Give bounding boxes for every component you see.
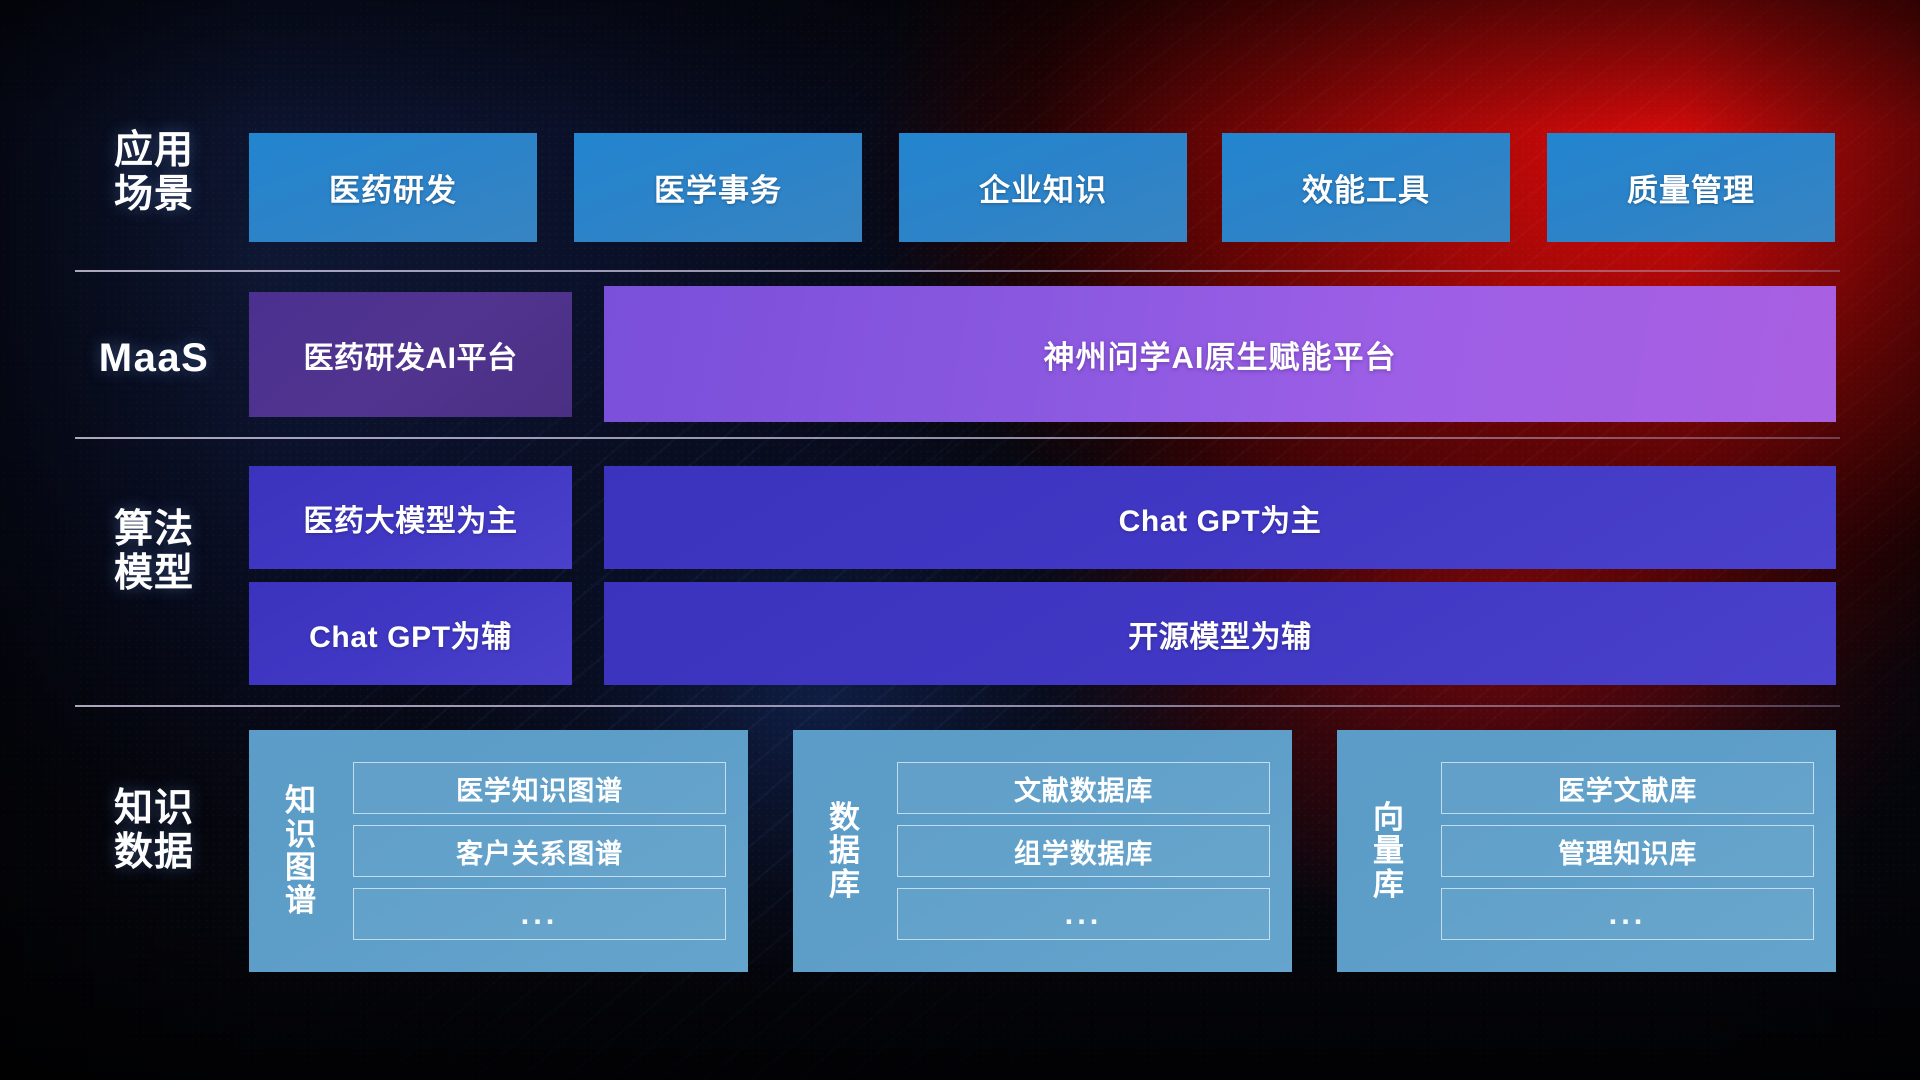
row-label-knowledge: 知识 数据 (74, 787, 234, 876)
knowledge-group-1[interactable]: 数 据 库 文献数据库 组学数据库 ... (793, 730, 1292, 972)
knowledge-group-2-item-1[interactable]: 管理知识库 (1441, 825, 1814, 877)
algo-left-box-1-label: Chat GPT为辅 (309, 612, 512, 656)
knowledge-group-0-label: 知 识 图 谱 (249, 784, 345, 918)
diagram-canvas: 应用 场景 医药研发 医学事务 企业知识 效能工具 质量管理 MaaS 医药研发… (0, 0, 1920, 1080)
knowledge-group-2[interactable]: 向 量 库 医学文献库 管理知识库 ... (1337, 730, 1836, 972)
knowledge-group-2-label-char-2: 库 (1345, 868, 1433, 901)
knowledge-group-0-label-char-0: 知 (257, 784, 345, 817)
divider-maas-algorithm (75, 437, 1840, 439)
knowledge-group-1-label: 数 据 库 (793, 801, 889, 901)
algo-right-box-0[interactable]: Chat GPT为主 (604, 466, 1836, 569)
knowledge-group-1-item-1[interactable]: 组学数据库 (897, 825, 1270, 877)
row-label-application-line1: 应用 (74, 129, 234, 173)
app-box-1[interactable]: 医学事务 (574, 133, 862, 242)
knowledge-group-2-label-char-1: 量 (1345, 834, 1433, 867)
maas-left-box[interactable]: 医药研发AI平台 (249, 292, 572, 417)
maas-right-box[interactable]: 神州问学AI原生赋能平台 (604, 286, 1836, 422)
maas-left-box-label: 医药研发AI平台 (304, 333, 518, 377)
row-label-maas-text: MaaS (74, 336, 234, 382)
app-box-0-label: 医药研发 (329, 165, 457, 210)
app-box-3-label: 效能工具 (1302, 165, 1430, 210)
knowledge-group-0-items: 医学知识图谱 客户关系图谱 ... (345, 746, 748, 956)
app-box-4[interactable]: 质量管理 (1547, 133, 1835, 242)
row-label-maas: MaaS (74, 336, 234, 382)
knowledge-group-1-label-char-0: 数 (801, 801, 889, 834)
knowledge-group-1-item-2[interactable]: ... (897, 888, 1270, 940)
algo-right-box-1[interactable]: 开源模型为辅 (604, 582, 1836, 685)
algo-left-box-0-label: 医药大模型为主 (303, 496, 517, 540)
knowledge-group-1-label-char-1: 据 (801, 834, 889, 867)
knowledge-group-2-item-0[interactable]: 医学文献库 (1441, 762, 1814, 814)
knowledge-group-2-items: 医学文献库 管理知识库 ... (1433, 746, 1836, 956)
knowledge-group-2-item-2[interactable]: ... (1441, 888, 1814, 940)
algo-left-box-0[interactable]: 医药大模型为主 (249, 466, 572, 569)
knowledge-group-0-label-char-2: 图 (257, 851, 345, 884)
app-box-3[interactable]: 效能工具 (1222, 133, 1510, 242)
row-label-application-line2: 场景 (74, 173, 234, 217)
row-label-knowledge-line2: 数据 (74, 831, 234, 875)
algo-right-box-1-label: 开源模型为辅 (1128, 612, 1312, 656)
app-box-1-label: 医学事务 (654, 165, 782, 210)
knowledge-group-0-item-2[interactable]: ... (353, 888, 726, 940)
knowledge-group-1-items: 文献数据库 组学数据库 ... (889, 746, 1292, 956)
knowledge-group-2-label: 向 量 库 (1337, 801, 1433, 901)
knowledge-group-0-item-0[interactable]: 医学知识图谱 (353, 762, 726, 814)
row-label-algorithm-line1: 算法 (74, 508, 234, 552)
knowledge-group-0-label-char-3: 谱 (257, 884, 345, 917)
knowledge-group-0[interactable]: 知 识 图 谱 医学知识图谱 客户关系图谱 ... (249, 730, 748, 972)
app-box-4-label: 质量管理 (1627, 165, 1755, 210)
maas-right-box-label: 神州问学AI原生赋能平台 (1044, 332, 1397, 377)
app-box-2-label: 企业知识 (979, 165, 1107, 210)
row-label-application: 应用 场景 (74, 129, 234, 218)
app-box-0[interactable]: 医药研发 (249, 133, 537, 242)
row-label-knowledge-line1: 知识 (74, 787, 234, 831)
knowledge-group-1-item-0[interactable]: 文献数据库 (897, 762, 1270, 814)
knowledge-group-0-item-1[interactable]: 客户关系图谱 (353, 825, 726, 877)
knowledge-group-1-label-char-2: 库 (801, 868, 889, 901)
algo-left-box-1[interactable]: Chat GPT为辅 (249, 582, 572, 685)
app-box-2[interactable]: 企业知识 (899, 133, 1187, 242)
knowledge-group-2-label-char-0: 向 (1345, 801, 1433, 834)
row-label-algorithm: 算法 模型 (74, 508, 234, 597)
divider-algorithm-knowledge (75, 705, 1840, 707)
algo-right-box-0-label: Chat GPT为主 (1119, 496, 1322, 540)
divider-application-maas (75, 270, 1840, 272)
knowledge-group-0-label-char-1: 识 (257, 818, 345, 851)
row-label-algorithm-line2: 模型 (74, 552, 234, 596)
